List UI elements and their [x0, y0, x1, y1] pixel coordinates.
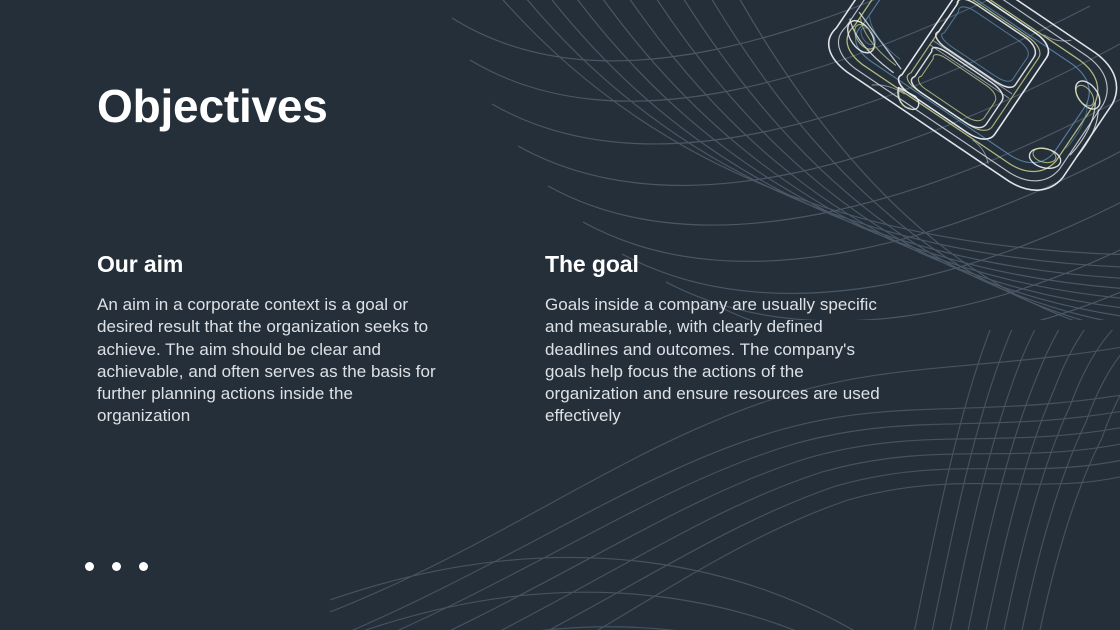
column-body-the-goal: Goals inside a company are usually speci… [545, 294, 895, 428]
pagination-dots [85, 562, 148, 571]
column-heading-the-goal: The goal [545, 250, 895, 278]
column-body-our-aim: An aim in a corporate context is a goal … [97, 294, 437, 428]
content-columns: Our aim An aim in a corporate context is… [97, 250, 997, 428]
slide-canvas: Objectives Our aim An aim in a corporate… [0, 0, 1120, 630]
content-column-our-aim: Our aim An aim in a corporate context is… [97, 250, 437, 428]
pagination-dot[interactable] [112, 562, 121, 571]
pagination-dot[interactable] [85, 562, 94, 571]
page-title: Objectives [97, 78, 328, 134]
content-column-the-goal: The goal Goals inside a company are usua… [545, 250, 895, 428]
column-heading-our-aim: Our aim [97, 250, 437, 278]
pagination-dot[interactable] [139, 562, 148, 571]
